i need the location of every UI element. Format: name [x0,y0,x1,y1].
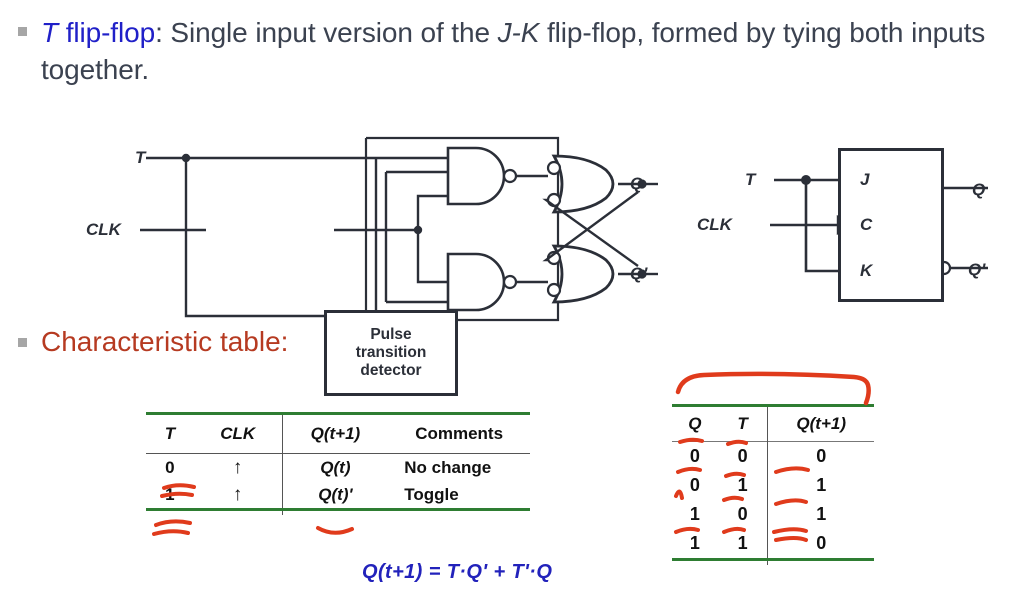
nor-bubble-top-in1 [548,162,560,174]
symbol-label-q: Q [972,180,985,200]
cell-qnext-0: Q(t) [282,454,388,482]
cell-q-1: 0 [672,471,718,500]
junction-dot [414,226,422,234]
jk-flip-flop-block-symbol: J C K [726,140,1016,310]
cell-clk-0: ↑ [194,454,282,482]
ptd-line-3: detector [360,362,421,380]
circuit-label-clk: CLK [86,220,121,240]
cell-qnext-1: 1 [768,471,874,500]
characteristic-equation: Q(t+1) = T·Q' + T'·Q [362,561,552,584]
term-t: T [41,17,58,48]
table-header-row: T CLK Q(t+1) Comments [146,414,530,454]
pulse-transition-detector-block: Pulse transition detector [324,310,458,396]
cell-t-1: 1 [718,471,768,500]
bullet-2-text: Characteristic table: [41,325,288,359]
junction-dot [182,154,190,162]
col-header-qnext: Q(t+1) [768,406,874,442]
cell-qnext-1: Q(t)' [282,481,388,510]
table-row: 1 1 0 [672,529,874,560]
characteristic-table: T CLK Q(t+1) Comments 0 ↑ Q(t) No change… [146,412,530,515]
table-bottom-rule-row [672,560,874,566]
cell-t-2: 0 [718,500,768,529]
pin-label-k: K [860,261,872,281]
cell-q-3: 1 [672,529,718,560]
cell-t-1: 1 [146,481,194,510]
nand-gate-bottom [448,254,504,310]
table-row: 0 0 0 [672,442,874,472]
t-flip-flop-circuit-diagram: Pulse transition detector [118,134,678,320]
table-row: 1 ↑ Q(t)' Toggle [146,481,530,510]
circuit-label-q: Q [630,174,643,194]
nand-gate-top [448,148,504,204]
pin-label-j: J [860,170,869,190]
nand-bubble-top [504,170,516,182]
cell-clk-1: ↑ [194,481,282,510]
col-header-q: Q [672,406,718,442]
bullet-item-t-flip-flop: T flip-flop: Single input version of the… [18,14,998,88]
nand-bubble-bottom [504,276,516,288]
block-symbol-body [838,148,944,302]
nor-gate-bottom [554,246,613,302]
col-header-clk: CLK [194,414,282,454]
col-header-qnext: Q(t+1) [282,414,388,454]
circuit-label-qn: Q' [630,264,647,284]
slide-canvas: T flip-flop: Single input version of the… [0,0,1018,606]
bullet-item-characteristic-table: Characteristic table: [18,325,288,359]
cell-q-0: 0 [672,442,718,472]
ptd-line-1: Pulse [370,326,411,344]
table-row: 0 ↑ Q(t) No change [146,454,530,482]
ptd-line-2: transition [356,344,427,362]
term-jk: J-K [498,17,540,48]
symbol-label-qn: Q' [968,260,985,280]
cell-q-2: 1 [672,500,718,529]
table-row: 0 1 1 [672,471,874,500]
junction-dot [801,175,811,185]
col-header-comments: Comments [388,414,530,454]
square-bullet-icon [18,27,27,36]
symbol-label-clk: CLK [697,215,732,235]
cell-t-0: 0 [146,454,194,482]
cell-t-3: 1 [718,529,768,560]
bullet-1-part-c: : Single input version of the [155,17,498,48]
symbol-label-t: T [745,170,755,190]
table-header-row: Q T Q(t+1) [672,406,874,442]
cell-t-0: 0 [718,442,768,472]
cell-qnext-3: 0 [768,529,874,560]
cell-qnext-0: 0 [768,442,874,472]
table-row: 1 0 1 [672,500,874,529]
pin-label-c: C [860,215,872,235]
circuit-svg [118,134,678,324]
bullet-1-text: T flip-flop: Single input version of the… [41,14,998,88]
square-bullet-icon [18,338,27,347]
table-bottom-rule-row [146,510,530,516]
truth-table: Q T Q(t+1) 0 0 0 0 1 1 1 0 1 1 1 0 [672,404,874,565]
term-flip-flop: flip-flop [58,17,155,48]
cell-qnext-2: 1 [768,500,874,529]
col-header-t: T [718,406,768,442]
cell-comment-0: No change [388,454,530,482]
col-header-t: T [146,414,194,454]
circuit-label-t: T [135,148,145,168]
nor-gate-top [554,156,613,212]
cell-comment-1: Toggle [388,481,530,510]
nor-bubble-bottom-in2 [548,284,560,296]
